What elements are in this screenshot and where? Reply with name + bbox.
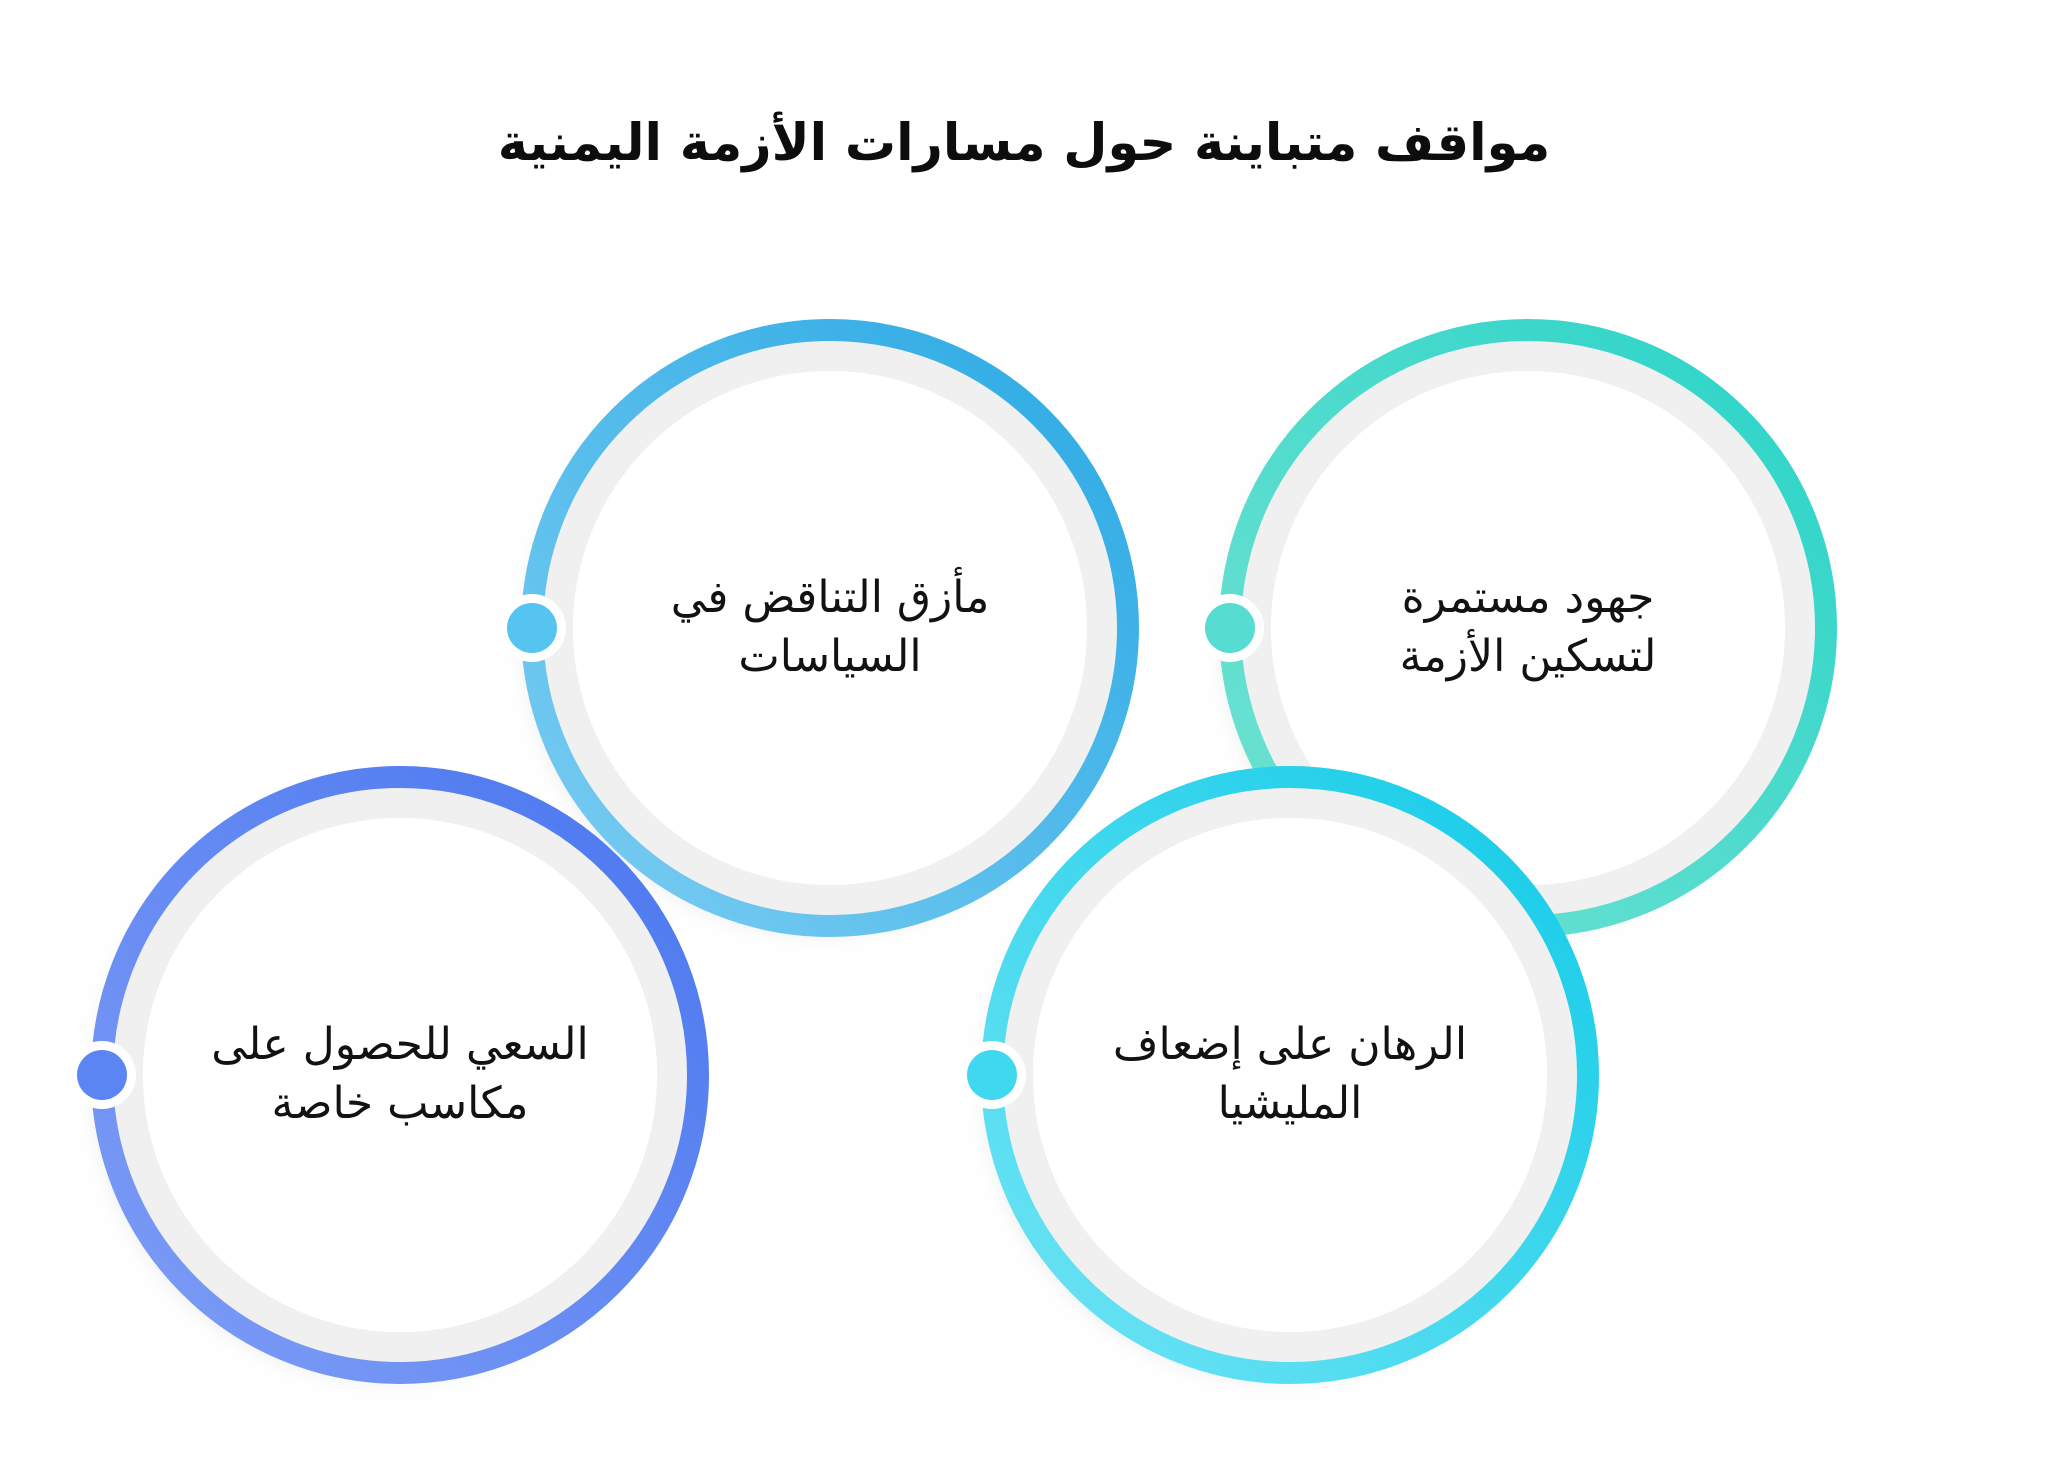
circle-node-3[interactable]: الرهان على إضعافالمليشيا	[922, 707, 1658, 1443]
circle-node-4[interactable]: السعي للحصول علىمكاسب خاصة	[32, 707, 768, 1443]
circle-ring-4	[32, 707, 768, 1443]
circle-ring-3	[922, 707, 1658, 1443]
infographic-canvas: مواقف متباينة حول مسارات الأزمة اليمنية …	[0, 0, 2048, 1478]
circle-group: جهود مستمرةلتسكين الأزمةمأزق التناقض فيا…	[0, 0, 2048, 1478]
